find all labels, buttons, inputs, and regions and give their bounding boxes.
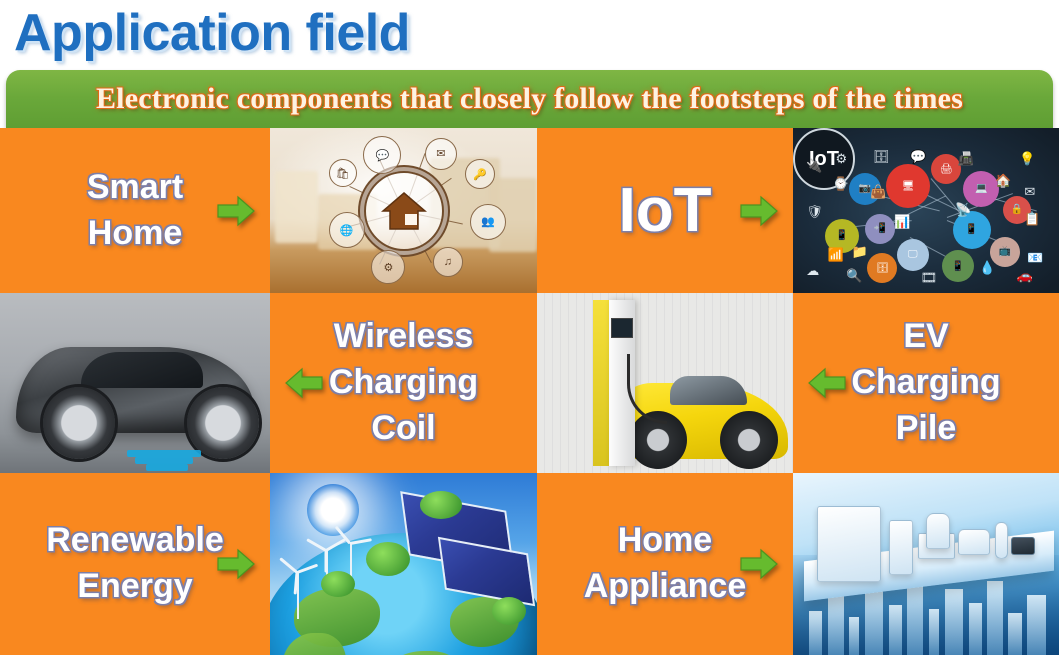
video-icon: 🎞 bbox=[921, 270, 938, 286]
bag-icon: 🛍 bbox=[329, 159, 357, 187]
tile-home-appliance-image bbox=[793, 473, 1059, 655]
cloud-icon: ☁ bbox=[806, 263, 819, 279]
arrow-right-icon bbox=[739, 194, 779, 228]
tile-smart-home[interactable]: Smart Home bbox=[0, 128, 270, 293]
database-icon: 🗄 bbox=[873, 149, 890, 165]
bag-icon: 👜 bbox=[870, 184, 886, 200]
microwave-icon bbox=[958, 529, 990, 554]
car-icon: 🚗 bbox=[1016, 268, 1032, 284]
dishwasher-icon bbox=[817, 506, 881, 582]
tile-label-line1: Home bbox=[584, 518, 746, 564]
tile-label-line1: Smart bbox=[87, 165, 183, 211]
tile-iot-image: IoT 🖥 🖨 📷 💻 🔒 📱 📲 📱 🖵 🗄 📱 📺 🔌 ⚙ 🗄 💬 📠 bbox=[793, 128, 1059, 293]
purifier-icon bbox=[995, 522, 1008, 558]
mobile-node-icon: 📱 bbox=[942, 250, 974, 282]
shield-icon: 🛡 bbox=[806, 204, 823, 220]
application-field-slide: Application field Electronic components … bbox=[0, 0, 1059, 655]
tile-label-line2: Energy bbox=[46, 564, 224, 610]
tile-smart-home-image: 💬 ✉ 🔑 👥 ♫ ⚙ 🌐 🛍 bbox=[270, 128, 537, 293]
tile-wireless-charging-coil[interactable]: Wireless Charging Coil bbox=[270, 293, 537, 473]
tile-label-line1: IoT bbox=[619, 169, 712, 253]
tile-label: Renewable Energy bbox=[46, 518, 224, 610]
monitor-node-icon: 🖥 bbox=[886, 164, 930, 208]
tile-label: EV Charging Pile bbox=[851, 314, 1000, 452]
printer-node-icon: 🖨 bbox=[931, 154, 961, 184]
tile-label-line2: Home bbox=[87, 211, 183, 257]
chat-icon: 💬 bbox=[910, 149, 926, 165]
arrow-right-icon bbox=[216, 194, 256, 228]
water-heater-icon bbox=[889, 520, 913, 575]
wifi-icon: 📶 bbox=[828, 247, 844, 263]
device-node-icon: 📲 bbox=[865, 214, 895, 244]
screen-node-icon: 🖵 bbox=[897, 239, 929, 271]
tile-label: Home Appliance bbox=[584, 518, 746, 610]
microwave-icon: 📠 bbox=[958, 151, 974, 167]
tile-label: IoT bbox=[619, 169, 712, 253]
console-icon bbox=[1011, 537, 1035, 555]
envelope-icon: ✉ bbox=[1024, 184, 1035, 200]
people-icon: 👥 bbox=[470, 204, 506, 240]
renewable-energy-photo bbox=[270, 473, 537, 655]
router-icon: 📡 bbox=[955, 202, 971, 218]
tile-label-line3: Coil bbox=[329, 406, 478, 452]
tile-iot[interactable]: IoT bbox=[537, 128, 793, 293]
house-icon bbox=[364, 171, 444, 251]
mail-icon: ✉ bbox=[425, 138, 457, 170]
tagline-text: Electronic components that closely follo… bbox=[96, 82, 963, 116]
iot-network-illustration: IoT 🖥 🖨 📷 💻 🔒 📱 📲 📱 🖵 🗄 📱 📺 🔌 ⚙ 🗄 💬 📠 bbox=[793, 128, 1059, 293]
chart-icon: 📊 bbox=[894, 214, 910, 230]
chat-icon: 💬 bbox=[363, 136, 401, 174]
tile-label-line2: Charging bbox=[329, 360, 478, 406]
search-icon: 🔍 bbox=[846, 268, 862, 284]
smart-home-illustration: 💬 ✉ 🔑 👥 ♫ ⚙ 🌐 🛍 bbox=[270, 128, 537, 293]
tile-ev-charging-image bbox=[537, 293, 793, 473]
tile-label-line2: Charging bbox=[851, 360, 1000, 406]
tile-label-line2: Appliance bbox=[584, 564, 746, 610]
page-title: Application field bbox=[14, 3, 410, 63]
tile-wireless-charging-image bbox=[0, 293, 270, 473]
tile-label: Smart Home bbox=[87, 165, 183, 257]
ev-charging-pile-photo bbox=[537, 293, 793, 473]
tile-label: Wireless Charging Coil bbox=[329, 314, 478, 452]
gear-icon: ⚙ bbox=[371, 250, 405, 284]
house-icon: 🏠 bbox=[995, 173, 1011, 189]
tile-label-line3: Pile bbox=[851, 406, 1000, 452]
tile-ev-charging-pile[interactable]: EV Charging Pile bbox=[793, 293, 1059, 473]
boiler-icon bbox=[926, 513, 950, 549]
tile-label-line1: Wireless bbox=[329, 314, 478, 360]
mail-icon: 📧 bbox=[1027, 250, 1043, 266]
tile-renewable-energy-image bbox=[270, 473, 537, 655]
folder-icon: 📁 bbox=[852, 244, 868, 260]
arrow-right-icon bbox=[739, 547, 779, 581]
title-bar: Application field bbox=[0, 0, 1059, 70]
arrow-left-icon bbox=[284, 366, 324, 400]
tile-label-line1: Renewable bbox=[46, 518, 224, 564]
gears-icon: ⚙ bbox=[836, 151, 848, 167]
arrow-right-icon bbox=[216, 547, 256, 581]
tile-label-line1: EV bbox=[851, 314, 1000, 360]
tile-renewable-energy[interactable]: Renewable Energy bbox=[0, 473, 270, 655]
sun-icon bbox=[307, 484, 359, 536]
application-grid: Smart Home bbox=[0, 128, 1059, 655]
music-icon: ♫ bbox=[433, 247, 463, 277]
bulb-icon: 💡 bbox=[1019, 151, 1035, 167]
droplet-icon: 💧 bbox=[979, 260, 995, 276]
server-node-icon: 🗄 bbox=[867, 253, 897, 283]
wireless-charging-car-photo bbox=[0, 293, 270, 473]
home-appliance-photo bbox=[793, 473, 1059, 655]
watch-icon: ⌚ bbox=[833, 176, 849, 192]
globe-icon: 🌐 bbox=[329, 212, 365, 248]
clipboard-icon: 📋 bbox=[1024, 211, 1040, 227]
tagline-banner: Electronic components that closely follo… bbox=[6, 70, 1053, 128]
plug-icon: 🔌 bbox=[806, 158, 822, 174]
arrow-left-icon bbox=[807, 366, 847, 400]
tile-home-appliance[interactable]: Home Appliance bbox=[537, 473, 793, 655]
